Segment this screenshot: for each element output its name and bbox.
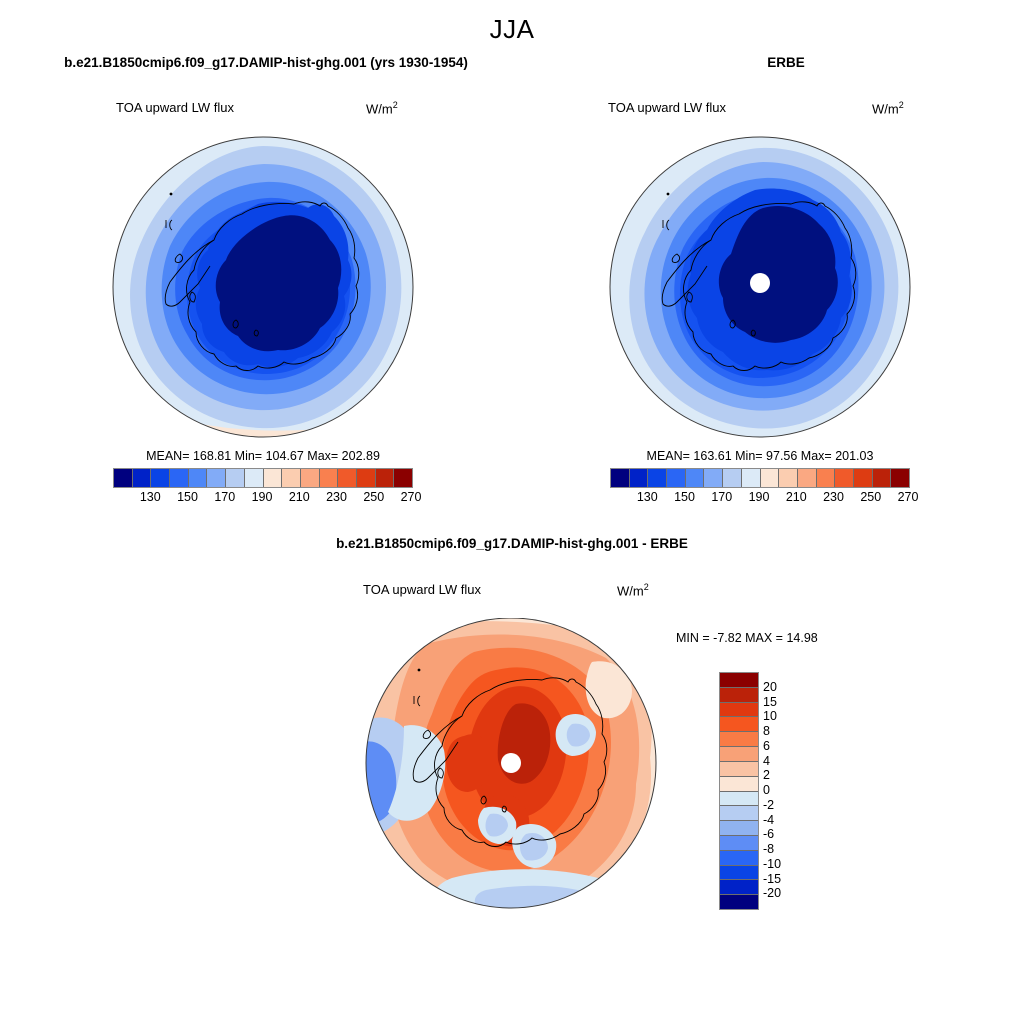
obs-unit-exponent: 2 (899, 100, 904, 110)
colorbar-tick: 190 (749, 490, 770, 504)
colorbar-segment (629, 469, 648, 487)
colorbar-tick: 6 (763, 739, 770, 753)
colorbar-segment (720, 746, 758, 761)
colorbar-tick: 170 (214, 490, 235, 504)
colorbar-tick: 170 (711, 490, 732, 504)
colorbar-segment (188, 469, 207, 487)
model-unit-text: W/m (366, 101, 393, 116)
colorbar-segment (720, 776, 758, 791)
colorbar-tick: 250 (860, 490, 881, 504)
colorbar-tick: -2 (763, 798, 774, 812)
colorbar-tick: 0 (763, 783, 770, 797)
colorbar-tick: 210 (786, 490, 807, 504)
colorbar-segment (722, 469, 741, 487)
colorbar-segment (890, 469, 909, 487)
obs-colorbar[interactable] (610, 468, 910, 488)
colorbar-tick: 8 (763, 724, 770, 738)
colorbar-tick: 4 (763, 754, 770, 768)
colorbar-tick: 150 (177, 490, 198, 504)
colorbar-segment (720, 716, 758, 731)
diff-unit-text: W/m (617, 583, 644, 598)
model-unit-exponent: 2 (393, 100, 398, 110)
model-polar-map (108, 132, 418, 442)
colorbar-tick: 2 (763, 768, 770, 782)
colorbar-segment (720, 791, 758, 806)
colorbar-tick: -10 (763, 857, 781, 871)
colorbar-segment (393, 469, 412, 487)
colorbar-segment (114, 469, 132, 487)
obs-polar-map (605, 132, 915, 442)
colorbar-tick: 130 (140, 490, 161, 504)
colorbar-segment (720, 879, 758, 894)
colorbar-segment (356, 469, 375, 487)
obs-pole-data-gap (750, 273, 770, 293)
colorbar-segment (720, 673, 758, 687)
colorbar-segment (319, 469, 338, 487)
colorbar-tick: 20 (763, 680, 777, 694)
colorbar-segment (720, 805, 758, 820)
model-variable-label: TOA upward LW flux (116, 100, 234, 115)
model-unit-label: W/m2 (366, 100, 398, 116)
diff-unit-label: W/m2 (617, 582, 649, 598)
diff-colorbar[interactable] (719, 672, 759, 910)
colorbar-segment (225, 469, 244, 487)
colorbar-segment (263, 469, 282, 487)
colorbar-tick: -15 (763, 872, 781, 886)
colorbar-segment (375, 469, 394, 487)
colorbar-segment (720, 894, 758, 909)
model-colorbar-ticks: 130 150 170 190 210 230 250 270 (113, 490, 411, 508)
colorbar-tick: 150 (674, 490, 695, 504)
colorbar-tick: 10 (763, 709, 777, 723)
obs-stats: MEAN= 163.61 Min= 97.56 Max= 201.03 (605, 449, 915, 463)
diff-pole-data-gap (501, 753, 521, 773)
colorbar-tick: 230 (823, 490, 844, 504)
obs-panel-title: ERBE (556, 55, 1016, 70)
colorbar-tick: 270 (401, 490, 422, 504)
obs-variable-label: TOA upward LW flux (608, 100, 726, 115)
colorbar-segment (720, 687, 758, 702)
colorbar-segment (150, 469, 169, 487)
colorbar-segment (834, 469, 853, 487)
colorbar-segment (720, 820, 758, 835)
colorbar-segment (685, 469, 704, 487)
colorbar-segment (760, 469, 779, 487)
colorbar-segment (720, 761, 758, 776)
colorbar-segment (720, 850, 758, 865)
colorbar-tick: 190 (252, 490, 273, 504)
colorbar-segment (816, 469, 835, 487)
colorbar-segment (720, 731, 758, 746)
colorbar-segment (611, 469, 629, 487)
colorbar-segment (206, 469, 225, 487)
diff-unit-exponent: 2 (644, 582, 649, 592)
colorbar-tick: 130 (637, 490, 658, 504)
colorbar-tick: 230 (326, 490, 347, 504)
colorbar-segment (797, 469, 816, 487)
model-panel-title: b.e21.B1850cmip6.f09_g17.DAMIP-hist-ghg.… (12, 55, 520, 70)
colorbar-segment (337, 469, 356, 487)
colorbar-segment (720, 835, 758, 850)
colorbar-tick: -6 (763, 827, 774, 841)
colorbar-tick: 270 (898, 490, 919, 504)
colorbar-segment (169, 469, 188, 487)
colorbar-segment (281, 469, 300, 487)
colorbar-tick: 15 (763, 695, 777, 709)
colorbar-tick: 250 (363, 490, 384, 504)
season-title: JJA (0, 14, 1024, 45)
colorbar-tick: 210 (289, 490, 310, 504)
colorbar-segment (853, 469, 872, 487)
model-contour-fills (108, 132, 418, 442)
obs-colorbar-ticks: 130 150 170 190 210 230 250 270 (610, 490, 908, 508)
colorbar-tick: -20 (763, 886, 781, 900)
colorbar-segment (666, 469, 685, 487)
colorbar-segment (244, 469, 263, 487)
colorbar-segment (300, 469, 319, 487)
colorbar-tick: -4 (763, 813, 774, 827)
diff-polar-map (356, 618, 666, 928)
colorbar-segment (741, 469, 760, 487)
colorbar-segment (720, 865, 758, 880)
diff-panel-title: b.e21.B1850cmip6.f09_g17.DAMIP-hist-ghg.… (0, 536, 1024, 551)
colorbar-segment (647, 469, 666, 487)
colorbar-segment (872, 469, 891, 487)
colorbar-segment (778, 469, 797, 487)
colorbar-tick: -8 (763, 842, 774, 856)
colorbar-segment (720, 702, 758, 717)
obs-unit-text: W/m (872, 101, 899, 116)
colorbar-segment (132, 469, 151, 487)
diff-minmax: MIN = -7.82 MAX = 14.98 (676, 631, 818, 645)
diff-variable-label: TOA upward LW flux (363, 582, 481, 597)
obs-unit-label: W/m2 (872, 100, 904, 116)
model-stats: MEAN= 168.81 Min= 104.67 Max= 202.89 (108, 449, 418, 463)
colorbar-segment (703, 469, 722, 487)
model-colorbar[interactable] (113, 468, 413, 488)
